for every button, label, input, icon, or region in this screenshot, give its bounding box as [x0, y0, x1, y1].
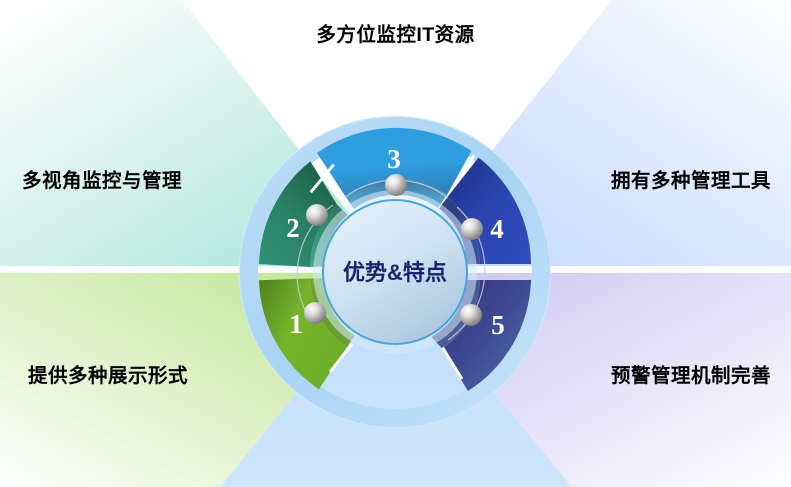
segment-5-number: 5 — [491, 310, 505, 340]
marker-5-sphere[interactable] — [460, 304, 482, 326]
segment-1-number: 1 — [289, 309, 303, 339]
label-middle-right: 拥有多种管理工具 — [611, 172, 771, 192]
segment-3-number: 3 — [387, 144, 401, 174]
label-top: 多方位监控IT资源 — [0, 26, 791, 46]
label-bottom-right: 预警管理机制完善 — [611, 367, 771, 387]
marker-1-sphere[interactable] — [304, 302, 326, 324]
marker-4-sphere[interactable] — [461, 218, 483, 240]
segment-4-number: 4 — [490, 214, 504, 244]
center-title: 优势&特点 — [343, 260, 447, 285]
diagram-canvas: 优势&特点 1 2 3 4 5 多方位监控IT资源 多视角监控与管理 拥有多种管… — [0, 0, 791, 487]
marker-2-sphere[interactable] — [306, 204, 328, 226]
segment-2-number: 2 — [286, 213, 300, 243]
label-bottom-left: 提供多种展示形式 — [28, 367, 188, 387]
label-middle-left: 多视角监控与管理 — [22, 172, 182, 192]
marker-3-sphere[interactable] — [385, 174, 407, 196]
donut-wheel: 优势&特点 1 2 3 4 5 — [0, 0, 791, 487]
